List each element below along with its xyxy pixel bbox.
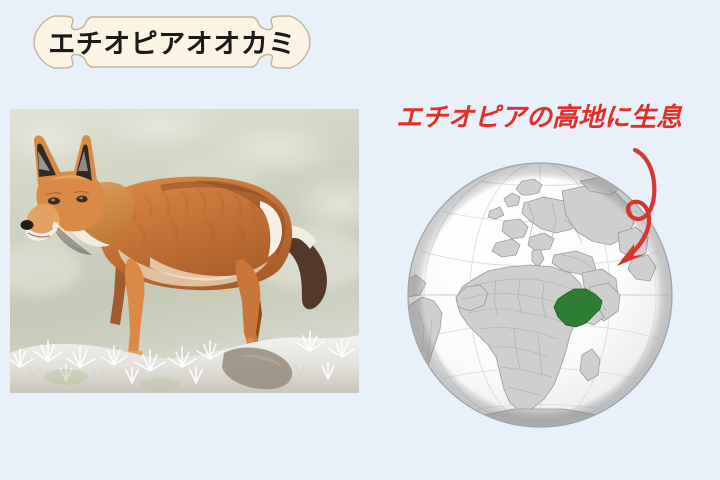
infographic-canvas: エチオピアオオカミ [0,0,720,480]
title-badge-label: エチオピアオオカミ [26,12,318,72]
habitat-annotation-text: エチオピアの高地に生息 [396,96,696,140]
wolf-photo-illustration [10,109,359,393]
globe-orthographic-svg [404,159,676,431]
ethiopian-wolf-photo [10,109,359,393]
title-badge: エチオピアオオカミ [26,12,318,72]
globe-map-ethiopia [404,159,676,431]
